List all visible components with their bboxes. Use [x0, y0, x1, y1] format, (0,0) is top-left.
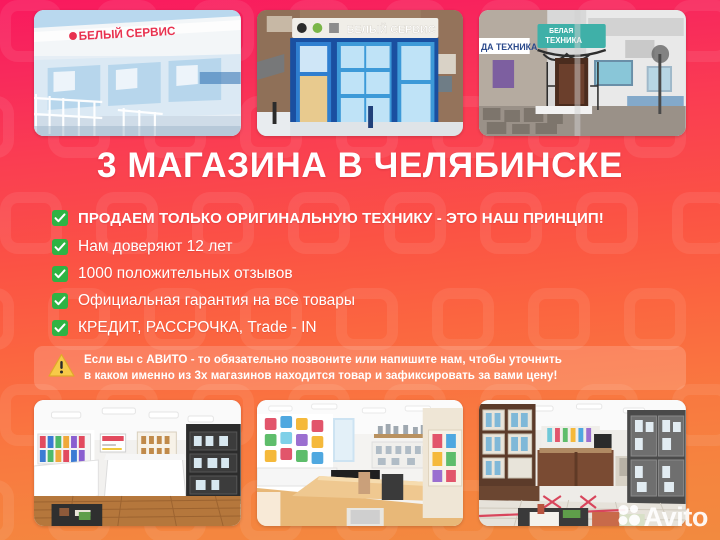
interior-photo-2[interactable] — [257, 400, 464, 526]
list-item: Нам доверяют 12 лет — [52, 233, 690, 260]
svg-text:БЕЛАЯ: БЕЛАЯ — [550, 28, 574, 35]
interior-photo-3[interactable] — [479, 400, 686, 526]
storefront-photo-3[interactable]: ДА ТЕХНИКА БЕЛАЯ ТЕХНИКА — [479, 10, 686, 136]
interior-photo-1[interactable] — [34, 400, 241, 526]
svg-text:БЕЛЫЙ СЕРВИС: БЕЛЫЙ СЕРВИС — [346, 23, 435, 36]
list-item-label: Официальная гарантия на все товары — [78, 293, 355, 309]
list-item-label: КРЕДИТ, РАССРОЧКА, Trade - IN — [78, 320, 317, 336]
storefront-belaya-tehnika-entrance-image: ДА ТЕХНИКА БЕЛАЯ ТЕХНИКА — [479, 10, 686, 136]
shop-interior-long-counter-image — [257, 400, 464, 526]
check-icon — [52, 293, 68, 309]
background-pattern-glyph — [0, 288, 14, 350]
warning-line-2: в каком именно из 3х магазинов находится… — [84, 368, 562, 384]
warning-triangle-icon — [48, 353, 75, 383]
shop-interior-tiled-floor-image — [479, 400, 686, 526]
list-item: Официальная гарантия на все товары — [52, 287, 690, 314]
list-item: КРЕДИТ, РАССРОЧКА, Trade - IN — [52, 314, 690, 341]
benefits-list: ПРОДАЕМ ТОЛЬКО ОРИГИНАЛЬНУЮ ТЕХНИКУ - ЭТ… — [52, 203, 690, 341]
list-item-label: ПРОДАЕМ ТОЛЬКО ОРИГИНАЛЬНУЮ ТЕХНИКУ - ЭТ… — [78, 211, 604, 226]
list-item: 1000 положительных отзывов — [52, 260, 690, 287]
photo-row-storefronts: БЕЛЫЙ СЕРВИС — [34, 10, 686, 136]
list-item: ПРОДАЕМ ТОЛЬКО ОРИГИНАЛЬНУЮ ТЕХНИКУ - ЭТ… — [52, 203, 690, 233]
photo-row-interiors — [34, 400, 686, 526]
shop-interior-white-counter-image — [34, 400, 241, 526]
storefront-blue-glass-entrance-image: БЕЛЫЙ СЕРВИС — [257, 10, 464, 136]
svg-text:ДА ТЕХНИКА: ДА ТЕХНИКА — [481, 42, 538, 52]
check-icon — [52, 210, 68, 226]
check-icon — [52, 239, 68, 255]
page-title: 3 МАГАЗИНА В ЧЕЛЯБИНСКЕ — [0, 148, 720, 185]
check-icon — [52, 320, 68, 336]
list-item-label: Нам доверяют 12 лет — [78, 239, 232, 255]
warning-panel: Если вы с АВИТО - то обязательно позвони… — [34, 346, 686, 390]
background-pattern-glyph — [0, 480, 14, 540]
check-icon — [52, 266, 68, 282]
storefront-photo-2[interactable]: БЕЛЫЙ СЕРВИС — [257, 10, 464, 136]
warning-text: Если вы с АВИТО - то обязательно позвони… — [84, 352, 562, 385]
list-item-label: 1000 положительных отзывов — [78, 266, 293, 282]
storefront-photo-1[interactable]: БЕЛЫЙ СЕРВИС — [34, 10, 241, 136]
warning-line-1: Если вы с АВИТО - то обязательно позвони… — [84, 352, 562, 368]
storefront-white-service-building-image: БЕЛЫЙ СЕРВИС — [34, 10, 241, 136]
